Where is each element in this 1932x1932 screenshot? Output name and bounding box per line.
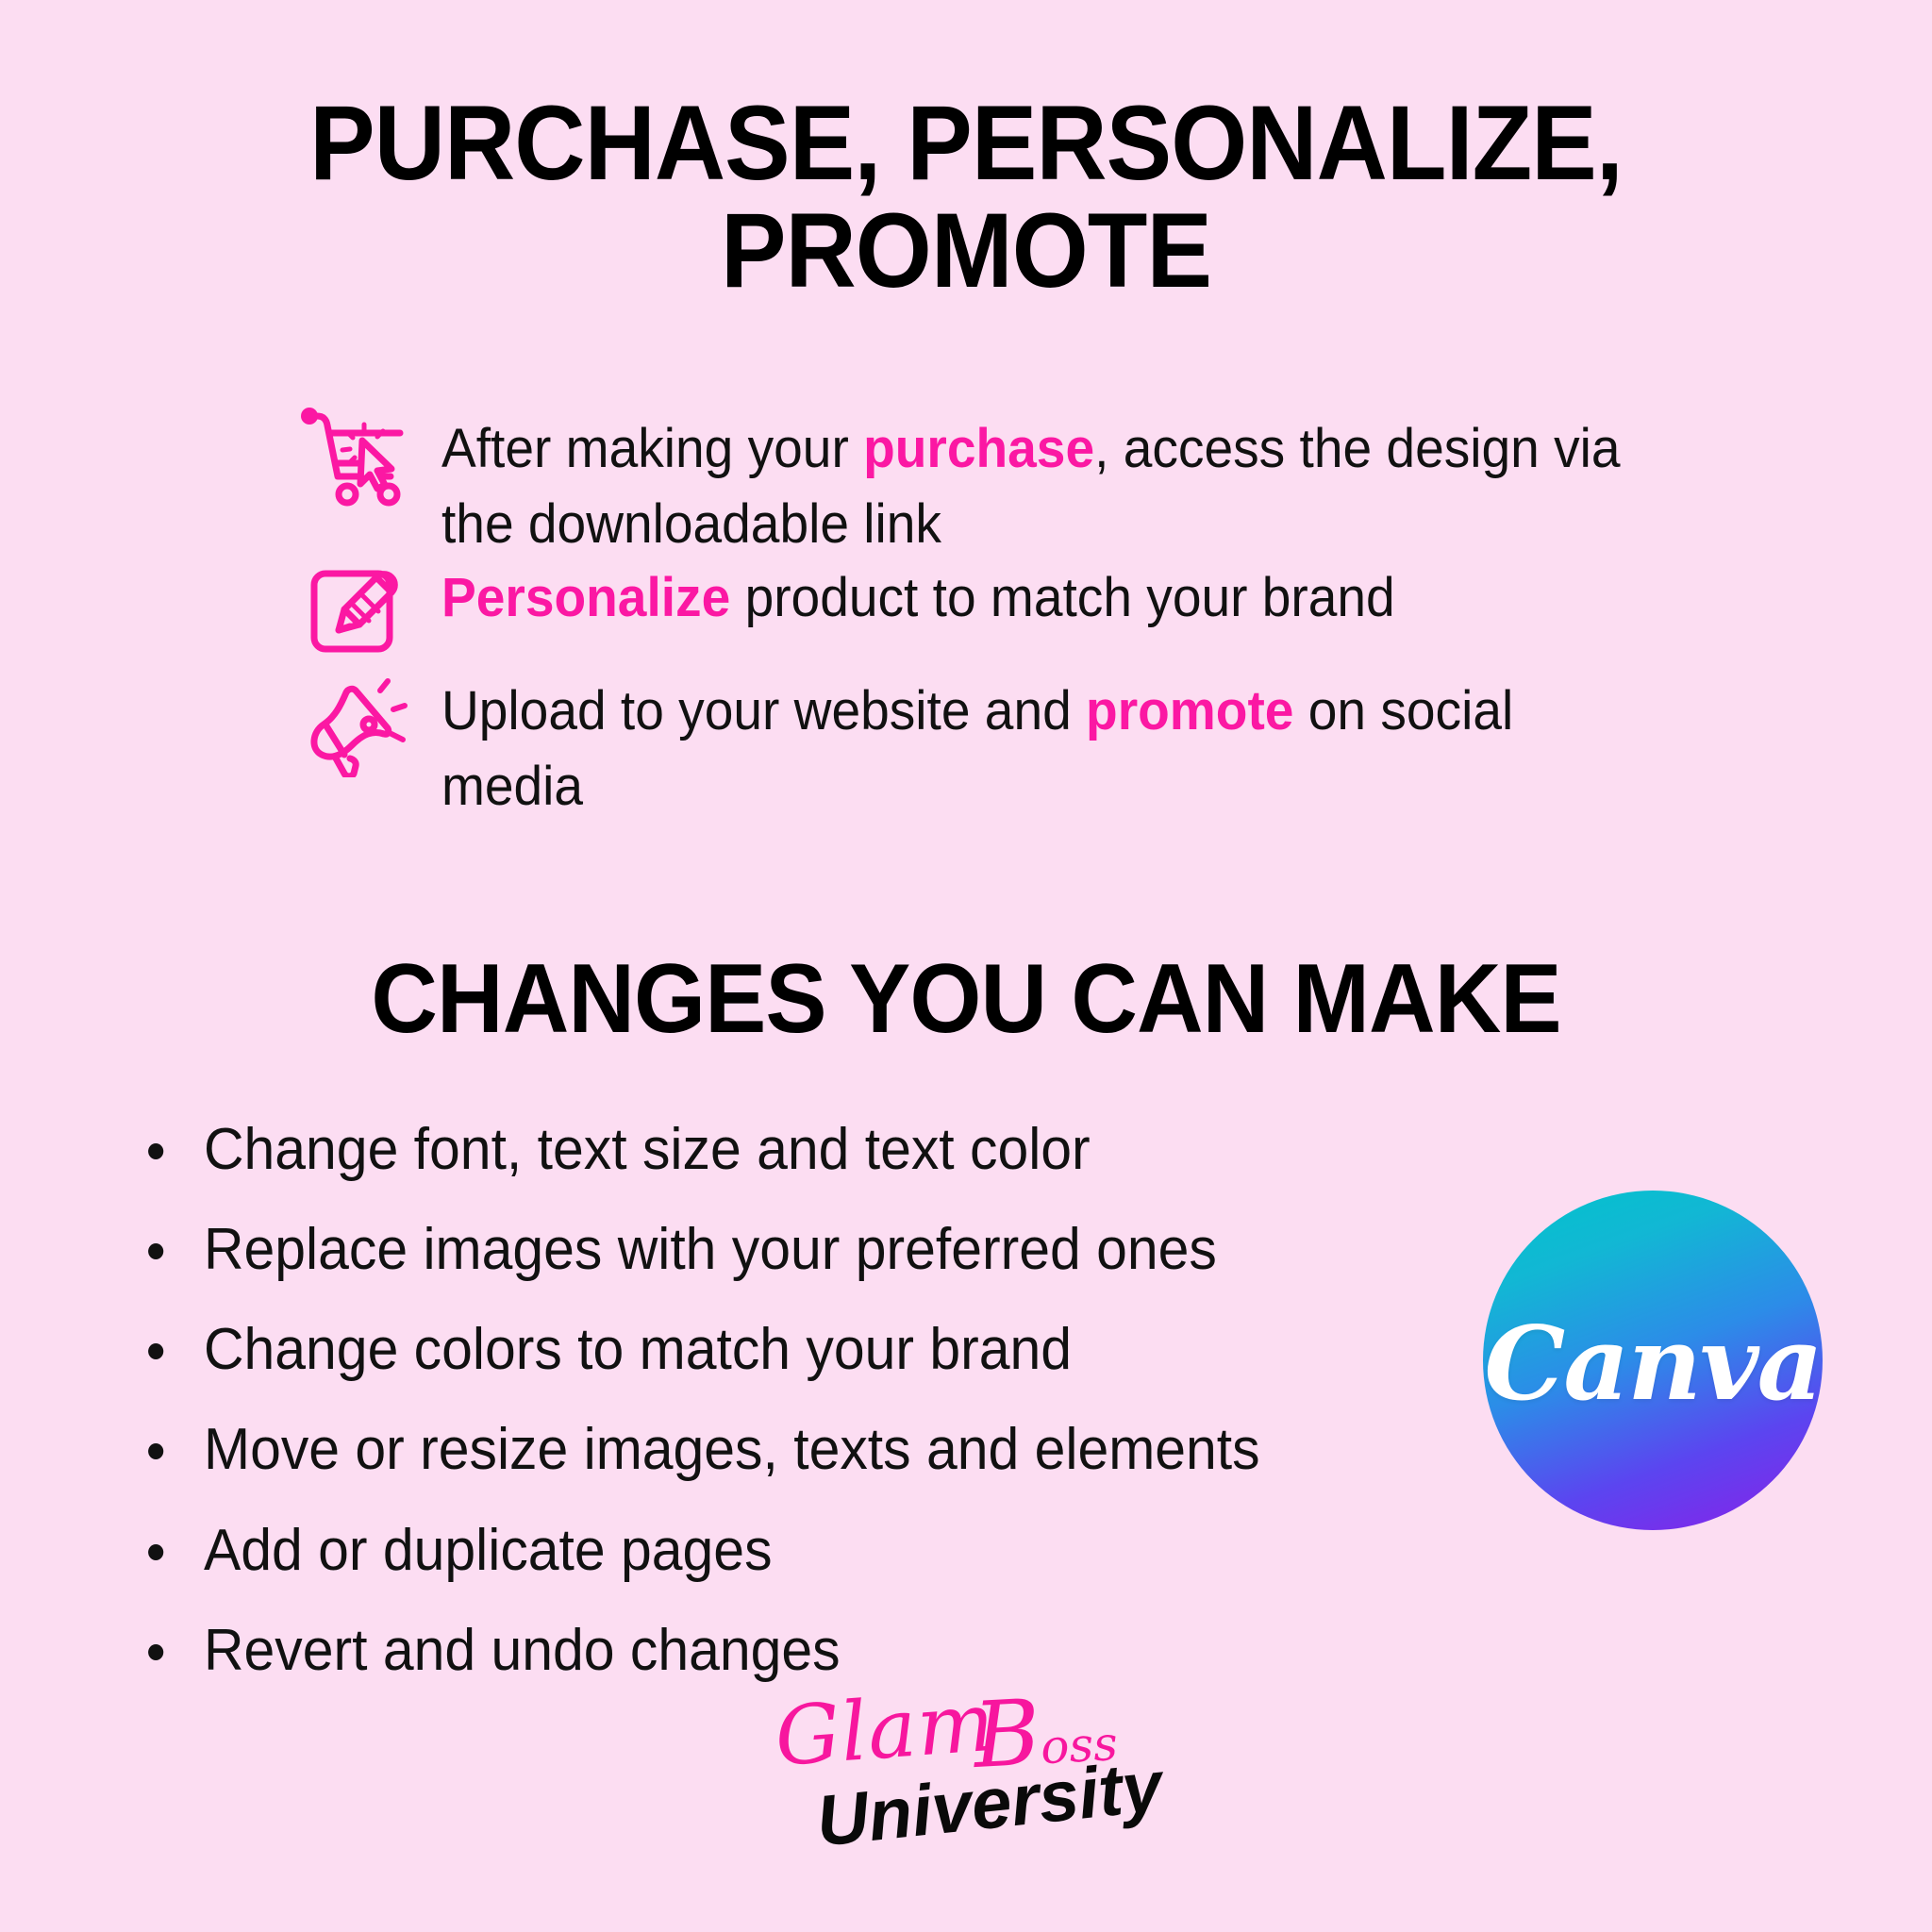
step-text: Personalize product to match your brand	[441, 557, 1635, 636]
step-text-prefix: Upload to your website and	[441, 680, 1086, 741]
step-text: Upload to your website and promote on so…	[441, 670, 1635, 824]
megaphone-icon	[283, 668, 425, 781]
list-item: Revert and undo changes	[132, 1616, 1324, 1685]
list-item: Change font, text size and text color	[132, 1115, 1324, 1184]
section-heading: CHANGES YOU CAN MAKE	[182, 943, 1750, 1056]
step-text-highlight: promote	[1086, 680, 1293, 741]
page-title-line-2: PROMOTE	[191, 197, 1741, 305]
steps-list: After making your purchase, access the d…	[283, 408, 1698, 824]
step-text-highlight: purchase	[863, 418, 1094, 479]
step-text: After making your purchase, access the d…	[441, 408, 1635, 562]
list-item: Replace images with your preferred ones	[132, 1215, 1324, 1284]
page-title: PURCHASE, PERSONALIZE, PROMOTE	[191, 90, 1741, 305]
canva-wordmark: Canva	[1484, 1305, 1821, 1424]
list-item: Change colors to match your brand	[132, 1315, 1324, 1384]
changes-list: Change font, text size and text color Re…	[132, 1115, 1387, 1716]
step-item: Personalize product to match your brand	[283, 557, 1698, 666]
canva-logo-badge: Canva	[1483, 1191, 1823, 1530]
step-text-prefix: After making your	[441, 418, 863, 479]
step-item: After making your purchase, access the d…	[283, 408, 1698, 562]
step-text-suffix: product to match your brand	[730, 567, 1394, 628]
list-item: Add or duplicate pages	[132, 1516, 1324, 1585]
page-title-line-1: PURCHASE, PERSONALIZE,	[191, 90, 1741, 197]
poster-canvas: PURCHASE, PERSONALIZE, PROMOTE	[0, 0, 1932, 1932]
pencil-edit-square-icon	[283, 553, 425, 666]
step-item: Upload to your website and promote on so…	[283, 670, 1698, 824]
list-item: Move or resize images, texts and element…	[132, 1415, 1324, 1484]
shopping-cart-click-icon	[283, 400, 425, 513]
step-text-highlight: Personalize	[441, 567, 730, 628]
brand-logo: Glam Boss University	[0, 1689, 1932, 1887]
